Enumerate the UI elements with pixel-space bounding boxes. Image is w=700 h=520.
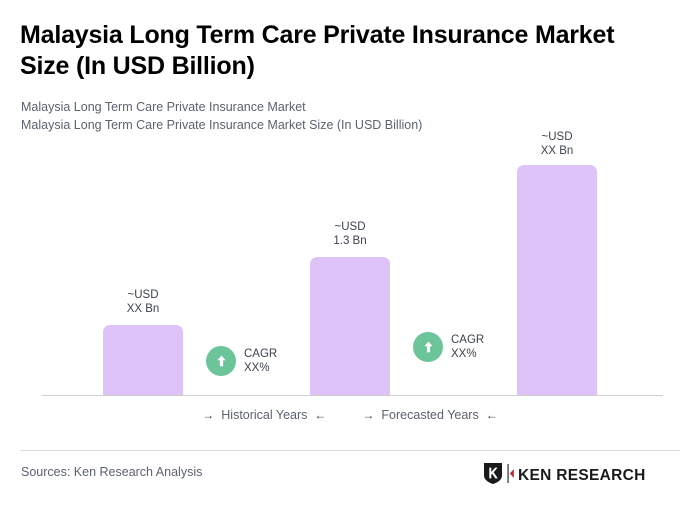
arrow-left-icon: ← xyxy=(314,409,326,421)
arrow-right-icon: → xyxy=(202,409,214,421)
arrow-up-icon xyxy=(413,332,443,362)
logo-divider xyxy=(507,464,514,488)
chart-plot-area: ~USD XX Bn ~USD 1.3 Bn ~USD XX Bn CAGR X… xyxy=(0,110,700,400)
bar-value-label: ~USD XX Bn xyxy=(517,130,597,158)
bar-historical[interactable] xyxy=(103,325,183,395)
period-forecasted-years: → Forecasted Years ← xyxy=(362,408,497,422)
period-label: Forecasted Years xyxy=(381,408,478,422)
bar-value-label: ~USD 1.3 Bn xyxy=(310,220,390,248)
period-label: Historical Years xyxy=(221,408,307,422)
market-size-chart-card: Malaysia Long Term Care Private Insuranc… xyxy=(0,0,700,520)
bar-forecasted[interactable] xyxy=(517,165,597,395)
cagr-label: CAGR XX% xyxy=(451,333,484,361)
ken-research-wordmark: KEN RESEARCH xyxy=(518,467,646,485)
arrow-up-icon xyxy=(206,346,236,376)
period-historical-years: → Historical Years ← xyxy=(202,408,326,422)
ken-research-logo: KEN RESEARCH xyxy=(483,462,646,490)
page-title: Malaysia Long Term Care Private Insuranc… xyxy=(20,20,670,82)
chart-axis-baseline xyxy=(42,395,663,396)
cagr-badge-historical: CAGR XX% xyxy=(206,346,277,376)
sources-text: Sources: Ken Research Analysis xyxy=(21,465,202,479)
bar-value-label: ~USD XX Bn xyxy=(103,288,183,316)
cagr-badge-forecasted: CAGR XX% xyxy=(413,332,484,362)
ken-research-shield-icon xyxy=(483,462,503,490)
arrow-right-icon: → xyxy=(362,409,374,421)
cagr-label: CAGR XX% xyxy=(244,347,277,375)
arrow-left-icon: ← xyxy=(486,409,498,421)
footer-divider xyxy=(20,450,680,451)
bar-current[interactable] xyxy=(310,257,390,395)
period-legend: → Historical Years ← → Forecasted Years … xyxy=(0,408,700,422)
